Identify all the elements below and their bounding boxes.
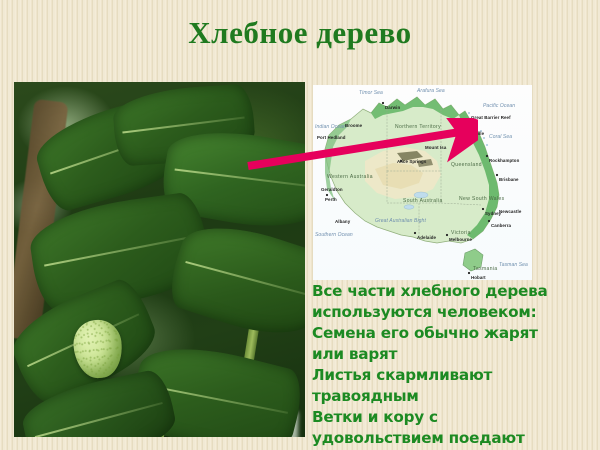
map-label-ocean: Great Australian Bight: [375, 219, 426, 224]
body-line: или варят: [312, 344, 600, 365]
map-label-city: Adelaide: [417, 235, 436, 240]
page-title: Хлебное дерево: [0, 14, 600, 52]
map-label-city: Geraldton: [321, 187, 343, 192]
map-label-city: Perth: [325, 197, 337, 202]
map-label-city: Rockhampton: [489, 158, 519, 163]
presentation-slide: Хлебное дерево: [0, 0, 600, 450]
map-label-ocean: Indian Ocean: [315, 125, 346, 130]
map-label-ocean: Timor Sea: [359, 91, 383, 96]
map-label-state: Western Australia: [327, 175, 373, 180]
body-line: Ветки и кору с: [312, 407, 600, 428]
body-line: используются человеком:: [312, 302, 600, 323]
map-label-ocean: Tasman Sea: [499, 263, 528, 268]
map-label-ocean: Southern Ocean: [315, 233, 353, 238]
map-label-city: Townsville: [461, 131, 484, 136]
map-label-city: Port Hedland: [317, 135, 346, 140]
map-label-state: South Australia: [403, 199, 443, 204]
map-label-city: Sydney: [485, 211, 501, 216]
breadfruit-tree-photo: [14, 82, 305, 437]
map-label-city: Great Barrier Reef: [471, 115, 511, 120]
map-label-city: Canberra: [491, 223, 511, 228]
map-label-ocean: Coral Sea: [489, 135, 512, 140]
map-label-state: Northern Territory: [395, 125, 441, 130]
map-label-ocean: Arafura Sea: [417, 89, 445, 94]
map-label-city: Broome: [345, 123, 362, 128]
map-label-state: New South Wales: [459, 197, 505, 202]
body-text-block: Все части хлебного дерева используются ч…: [312, 281, 600, 450]
map-label-state: Queensland: [451, 163, 482, 168]
map-label-city: Darwin: [385, 105, 400, 110]
body-line: травоядным: [312, 386, 600, 407]
body-line: Все части хлебного дерева: [312, 281, 600, 302]
map-label-city: Hobart: [471, 275, 486, 280]
map-label-city: Brisbane: [499, 177, 519, 182]
map-label-city: Cairns: [455, 123, 469, 128]
australia-map-image: Timor SeaArafura SeaIndian OceanPacific …: [313, 85, 532, 280]
map-label-city: Alice Springs: [397, 159, 426, 164]
map-label-state: Victoria: [451, 231, 471, 236]
body-line: Семена его обычно жарят: [312, 323, 600, 344]
map-label-city: Melbourne: [449, 237, 472, 242]
body-line: удовольствием поедают: [312, 428, 600, 449]
map-label-ocean: Pacific Ocean: [483, 104, 515, 109]
map-label-state: Tasmania: [473, 267, 498, 272]
map-label-city: Mount Isa: [425, 145, 446, 150]
map-label-city: Albany: [335, 219, 350, 224]
body-line: Листья скармливают: [312, 365, 600, 386]
map-label-city: Newcastle: [499, 209, 521, 214]
